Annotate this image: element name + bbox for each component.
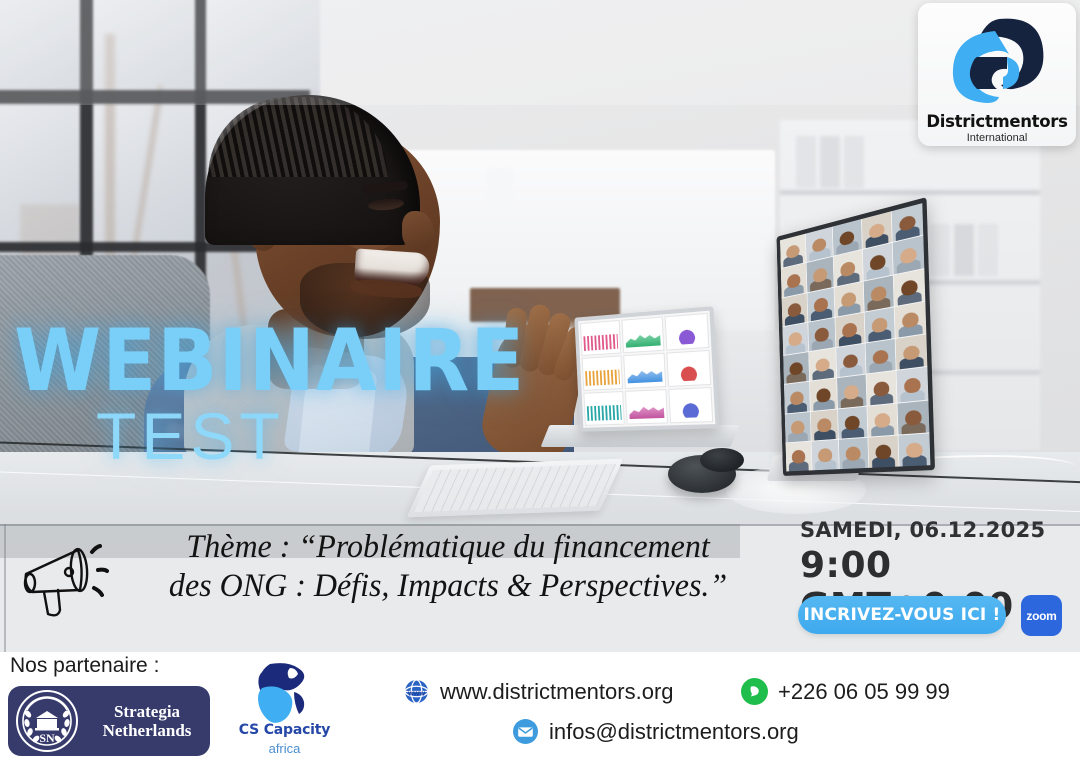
video-call-participant-tile xyxy=(785,412,811,443)
theme-line-1: Thème : “Problématique du financement xyxy=(128,528,768,567)
contact-website[interactable]: www www.districtmentors.org xyxy=(403,678,674,705)
video-call-participant-tile xyxy=(862,243,892,280)
contact-website-text: www.districtmentors.org xyxy=(440,679,674,705)
partner-name-line2: Netherlands xyxy=(84,721,210,740)
video-call-participant-tile xyxy=(835,281,864,316)
video-call-participant-tile xyxy=(809,348,836,381)
video-call-participant-tile xyxy=(783,352,809,384)
contact-email[interactable]: infos@districtmentors.org xyxy=(512,718,799,745)
dashboard-widget xyxy=(668,387,713,423)
nose xyxy=(402,211,434,251)
zoom-icon[interactable]: zoom xyxy=(1021,595,1062,636)
megaphone-icon xyxy=(14,530,122,622)
dashboard-widget xyxy=(583,391,624,426)
monitor-video-call xyxy=(777,197,935,476)
video-call-participant-tile xyxy=(808,287,835,321)
video-call-participant-tile xyxy=(836,344,865,378)
envelope-icon xyxy=(512,718,539,745)
video-call-participant-tile xyxy=(838,406,867,438)
video-call-participant-tile xyxy=(863,275,893,311)
dashboard-widget xyxy=(666,350,711,387)
theme-line-2: des ONG : Défis, Impacts & Perspectives.… xyxy=(128,567,768,606)
video-call-participant-tile xyxy=(812,439,840,470)
video-call-participant-tile xyxy=(784,382,810,413)
video-call-participant-tile xyxy=(810,378,837,410)
laptop-dashboard xyxy=(574,306,719,432)
video-call-participant-tile xyxy=(895,334,927,370)
video-call-participant-tile xyxy=(834,250,863,286)
whatsapp-icon xyxy=(741,678,768,705)
partner-name: Strategia Netherlands xyxy=(84,702,210,740)
video-call-participant-tile xyxy=(893,269,925,306)
partner-name-main: CS Capacity xyxy=(232,722,337,738)
video-call-participant-tile xyxy=(811,409,838,441)
globe-www-icon: www xyxy=(403,678,430,705)
video-call-participant-tile xyxy=(836,312,865,346)
contact-email-text: infos@districtmentors.org xyxy=(549,719,799,745)
dashboard-widget xyxy=(625,389,668,425)
hero-title-block: WEBINAIRE TEST xyxy=(14,322,570,469)
partner-cs-capacity-africa: CS Capacity africa xyxy=(232,662,337,758)
partners-label: Nos partenaire : xyxy=(10,654,159,678)
video-call-participant-tile xyxy=(837,375,866,408)
video-call-participant-tile xyxy=(867,403,897,436)
video-call-participant-tile xyxy=(868,435,898,468)
dashboard-widget xyxy=(580,320,621,356)
laurel-seal-icon: SN xyxy=(16,690,78,752)
partner-name-sub: africa xyxy=(232,741,337,756)
theme-text: Thème : “Problématique du financement de… xyxy=(128,528,768,606)
video-call-participant-tile xyxy=(807,257,834,292)
dashboard-widget xyxy=(582,355,623,390)
video-call-participant-tile xyxy=(786,441,812,471)
page-subtitle: TEST xyxy=(96,403,570,469)
video-call-participant-tile xyxy=(808,318,835,352)
video-call-participant-tile xyxy=(864,307,894,343)
video-call-participant-tile xyxy=(781,263,807,297)
districtmentors-swirl-logo xyxy=(941,11,1053,112)
video-call-participant-tile xyxy=(898,433,930,466)
video-call-participant-tile xyxy=(865,339,895,374)
page-title: WEBINAIRE xyxy=(14,322,525,401)
dashboard-widget xyxy=(621,316,664,353)
dashboard-widget xyxy=(665,313,710,351)
video-call-participant-tile xyxy=(897,400,929,434)
brand-name: Districtmentors xyxy=(926,112,1067,131)
register-button[interactable]: INCRIVEZ-VOUS ICI ! xyxy=(798,596,1006,634)
brand-subtitle: International xyxy=(967,132,1028,144)
video-call-participant-tile xyxy=(782,293,808,326)
video-call-participant-tile xyxy=(892,236,924,274)
brand-logo-card: Districtmentors International xyxy=(918,3,1076,146)
contact-phone-text: +226 06 05 99 99 xyxy=(778,679,950,705)
svg-text:www: www xyxy=(407,689,425,698)
dashboard-widget xyxy=(623,353,666,389)
video-call-participant-tile xyxy=(782,322,808,355)
partner-strategia-netherlands: SN Strategia Netherlands xyxy=(8,686,210,756)
video-call-participant-tile xyxy=(896,367,928,402)
webinar-flyer: WEBINAIRE TEST Thème : “Problématique du… xyxy=(0,0,1080,763)
event-date: SAMEDI, 06.12.2025 xyxy=(800,518,1045,542)
partner-name-line1: Strategia xyxy=(84,702,210,721)
video-call-participant-tile xyxy=(866,371,896,405)
africa-map-icon xyxy=(232,662,337,724)
contact-phone[interactable]: +226 06 05 99 99 xyxy=(741,678,950,705)
video-call-participant-tile xyxy=(839,437,868,469)
video-call-participant-tile xyxy=(894,301,926,338)
svg-text:SN: SN xyxy=(39,731,55,745)
